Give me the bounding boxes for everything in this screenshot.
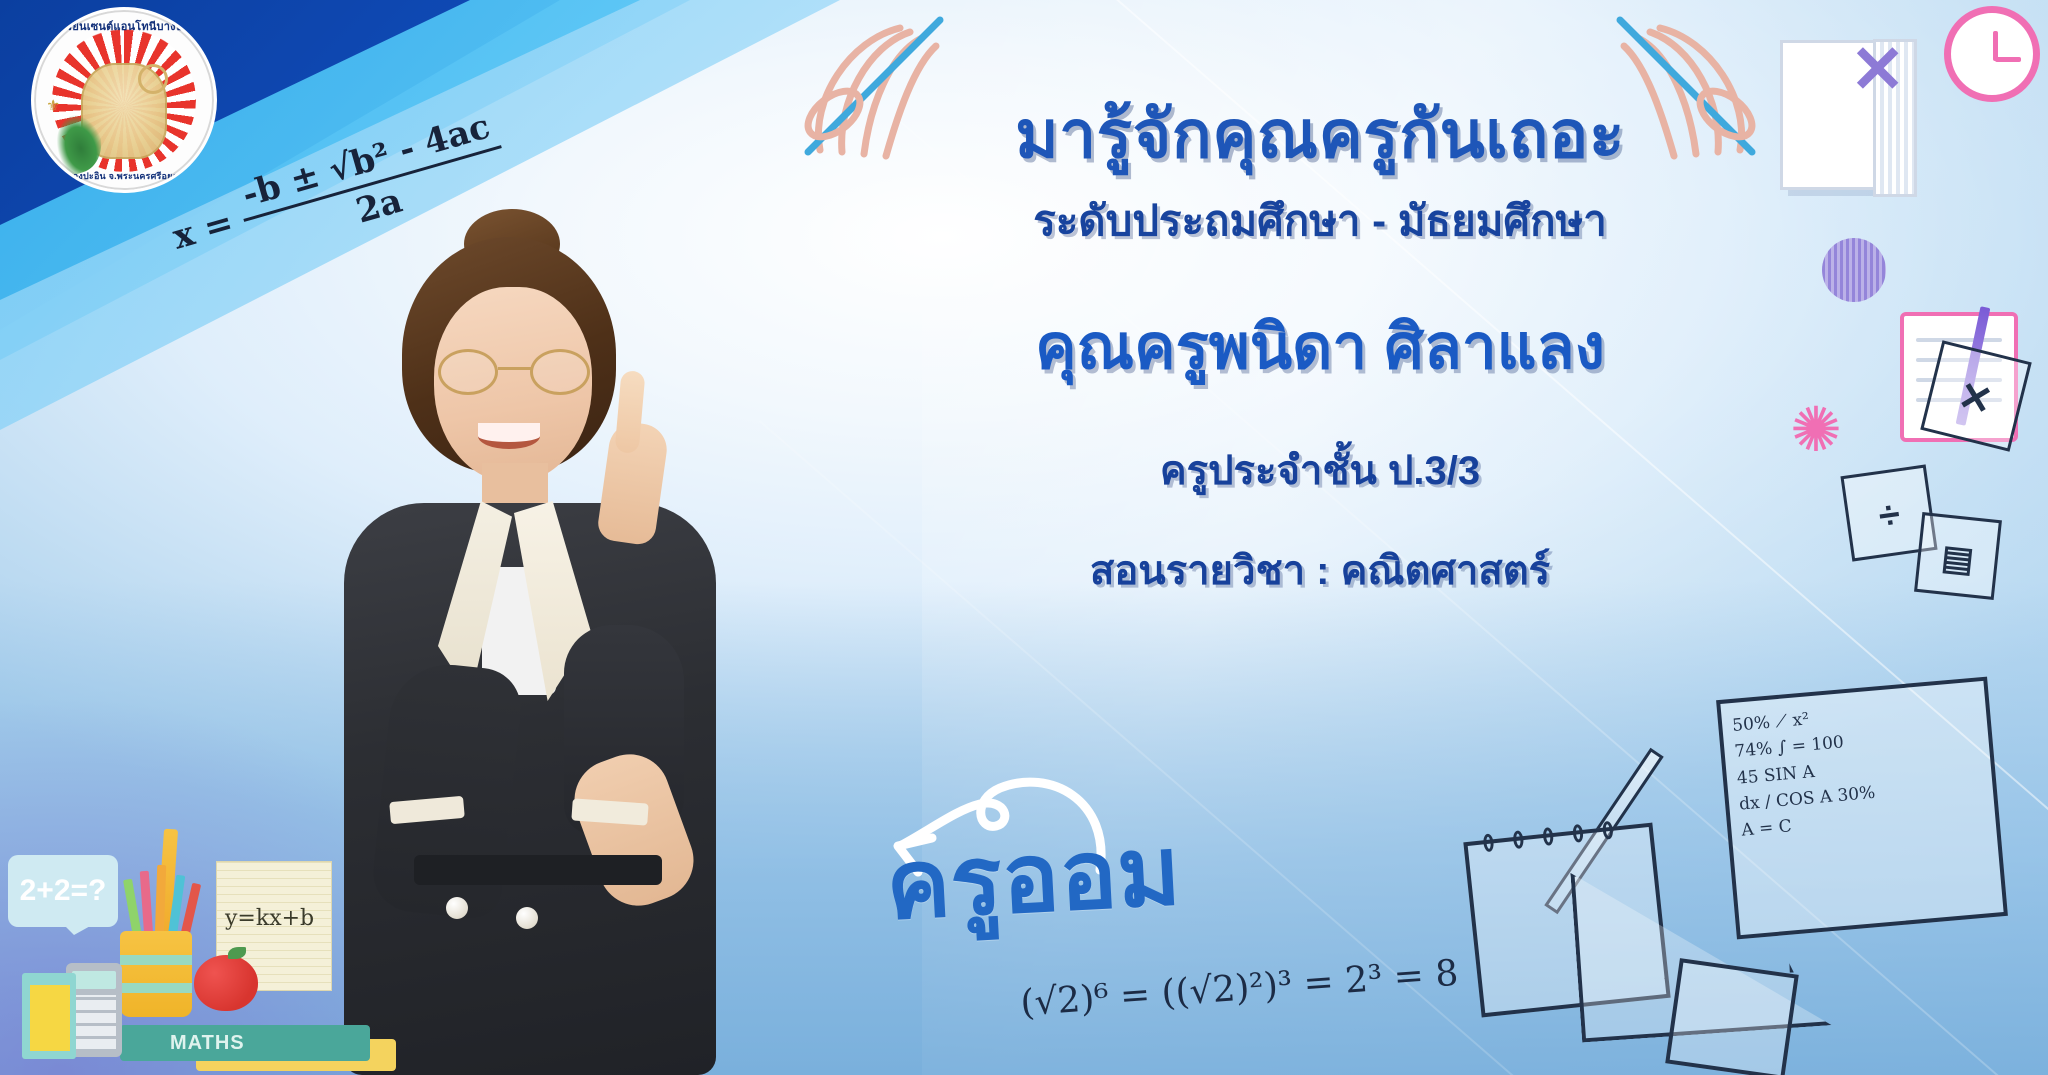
jacket-button [516,907,538,929]
belt [414,855,662,885]
smile [478,423,540,449]
school-logo: ⚜ โรงเรียนเซนต์แอนโทนีบางปะอิน อ.บางปะอิ… [34,10,214,190]
fleur-de-lis-icon: ⚜ [46,98,60,116]
teacher-name: คุณครูพนิดา ศิลาแลง [780,298,1860,396]
clock-icon [1944,6,2040,102]
education-level: ระดับประถมศึกษา - มัธยมศึกษา [780,188,1860,254]
x-symbol-icon: ✕ [1850,34,1910,104]
logo-bottom-text: อ.บางปะอิน จ.พระนครศรีอยุธยา [34,169,214,183]
logo-top-text: โรงเรียนเซนต์แอนโทนีบางปะอิน [34,17,214,35]
banner-canvas: ⚜ โรงเรียนเซนต์แอนโทนีบางปะอิน อ.บางปะอิ… [0,0,2048,1075]
page-title: มารู้จักคุณครูกันเถอะ [780,96,1860,174]
pencil-icon [140,871,154,937]
subject-taught: สอนรายวิชา : คณิตศาสตร์ [780,538,1860,602]
folder-icon [22,973,76,1059]
paper-equation: y=kx+b [225,906,314,931]
calculator-doodle-icon [1665,958,1799,1075]
striped-circle-icon [1822,238,1886,302]
jacket-button [446,897,468,919]
class-role: ครูประจำชั้น ป.3/3 [780,438,1860,502]
speech-bubble: 2+2=? [8,855,118,927]
glasses-icon [436,349,592,395]
school-supplies-illustration: 2+2=? y=kx+b MATHS [0,835,420,1075]
pencil-cup [120,931,192,1017]
formula-lhs: x = [169,202,238,257]
book-label: MATHS [170,1032,245,1055]
pencil-icon [123,879,142,938]
maths-book: MATHS [120,1025,370,1061]
apple-icon [194,955,258,1011]
dice-icon: ▤ [1914,512,2002,600]
gear-icon: ✺ [1790,400,1854,464]
math-board-doodle: 50% ⟋ x² 74% ∫ = 100 45 SIN A dx / COS A… [1716,677,2008,940]
text-block: มารู้จักคุณครูกันเถอะ ระดับประถมศึกษา - … [780,96,1860,602]
teacher-nickname-signature: ครูออม [882,794,1184,961]
